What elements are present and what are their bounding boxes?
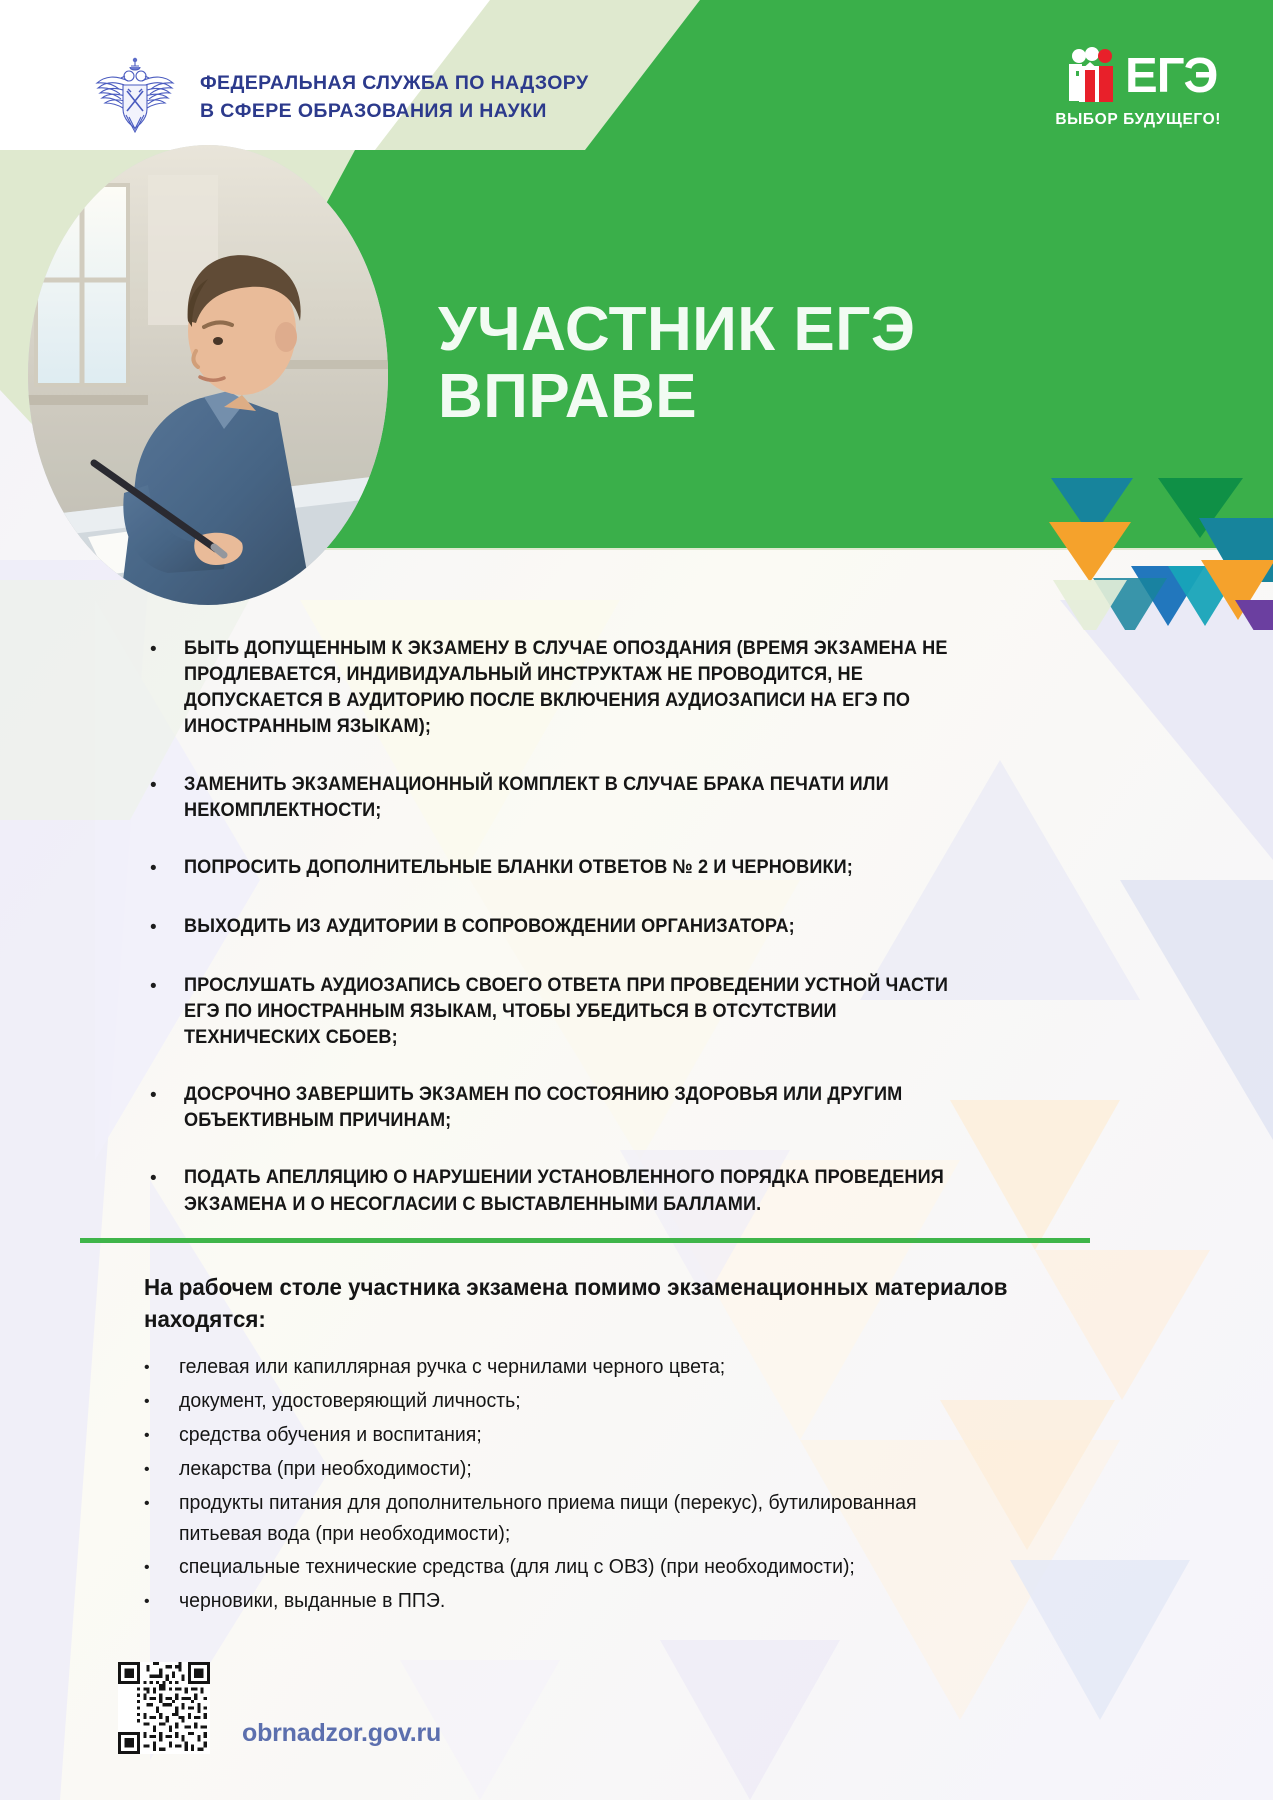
- desk-item-text: продукты питания для дополнительного при…: [179, 1488, 1001, 1550]
- desk-items-list: • гелевая или капиллярная ручка с чернил…: [144, 1352, 1044, 1618]
- desk-item-text: гелевая или капиллярная ручка с чернилам…: [179, 1352, 1001, 1383]
- bullet-icon: •: [144, 1454, 179, 1485]
- right-text: ПОПРОСИТЬ ДОПОЛНИТЕЛЬНЫЕ БЛАНКИ ОТВЕТОВ …: [184, 854, 954, 882]
- agency-name-line2: В СФЕРЕ ОБРАЗОВАНИЯ И НАУКИ: [200, 98, 589, 126]
- student-writing-photo: [28, 145, 388, 605]
- ege-tagline: ВЫБОР БУДУЩЕГО!: [1055, 111, 1221, 129]
- page-title: УЧАСТНИК ЕГЭ ВПРАВЕ: [438, 297, 915, 431]
- bullet-icon: •: [144, 1552, 179, 1583]
- right-text: ДОСРОЧНО ЗАВЕРШИТЬ ЭКЗАМЕН ПО СОСТОЯНИЮ …: [184, 1081, 954, 1133]
- list-item: • специальные технические средства (для …: [144, 1552, 1044, 1583]
- list-item: • лекарства (при необходимости);: [144, 1454, 1044, 1485]
- desk-item-text: черновики, выданные в ППЭ.: [179, 1586, 1001, 1617]
- right-text: ПОДАТЬ АПЕЛЛЯЦИЮ О НАРУШЕНИИ УСТАНОВЛЕНН…: [184, 1164, 954, 1216]
- bullet-icon: •: [150, 635, 184, 740]
- desk-item-text: специальные технические средства (для ли…: [179, 1552, 1001, 1583]
- qr-code-icon[interactable]: [118, 1662, 210, 1754]
- right-text: ВЫХОДИТЬ ИЗ АУДИТОРИИ В СОПРОВОЖДЕНИИ ОР…: [184, 913, 954, 941]
- list-item: • ПОДАТЬ АПЕЛЛЯЦИЮ О НАРУШЕНИИ УСТАНОВЛЕ…: [150, 1164, 1012, 1216]
- list-item: • ПОПРОСИТЬ ДОПОЛНИТЕЛЬНЫЕ БЛАНКИ ОТВЕТО…: [150, 854, 1012, 882]
- bullet-icon: •: [150, 913, 184, 941]
- list-item: • документ, удостоверяющий личность;: [144, 1386, 1044, 1417]
- right-text: БЫТЬ ДОПУЩЕННЫМ К ЭКЗАМЕНУ В СЛУЧАЕ ОПОЗ…: [184, 635, 954, 740]
- bullet-icon: •: [144, 1586, 179, 1617]
- list-item: • ДОСРОЧНО ЗАВЕРШИТЬ ЭКЗАМЕН ПО СОСТОЯНИ…: [150, 1081, 1012, 1133]
- desk-items-section: На рабочем столе участника экзамена поми…: [144, 1272, 1044, 1620]
- page-title-line1: УЧАСТНИК ЕГЭ: [438, 297, 915, 364]
- list-item: • БЫТЬ ДОПУЩЕННЫМ К ЭКЗАМЕНУ В СЛУЧАЕ ОП…: [150, 635, 1012, 740]
- rights-list: • БЫТЬ ДОПУЩЕННЫМ К ЭКЗАМЕНУ В СЛУЧАЕ ОП…: [150, 635, 1012, 1248]
- page-title-line2: ВПРАВЕ: [438, 364, 915, 431]
- ege-logo: ЕГЭ ВЫБОР БУДУЩЕГО!: [1055, 46, 1221, 129]
- bullet-icon: •: [150, 854, 184, 882]
- decorative-triangles: [943, 400, 1273, 630]
- agency-name-line1: ФЕДЕРАЛЬНАЯ СЛУЖБА ПО НАДЗОРУ: [200, 70, 589, 98]
- list-item: • ВЫХОДИТЬ ИЗ АУДИТОРИИ В СОПРОВОЖДЕНИИ …: [150, 913, 1012, 941]
- right-text: ЗАМЕНИТЬ ЭКЗАМЕНАЦИОННЫЙ КОМПЛЕКТ В СЛУЧ…: [184, 771, 954, 823]
- bullet-icon: •: [150, 1164, 184, 1216]
- desk-items-heading: На рабочем столе участника экзамена поми…: [144, 1272, 1042, 1336]
- section-divider: [80, 1238, 1090, 1243]
- list-item: • ПРОСЛУШАТЬ АУДИОЗАПИСЬ СВОЕГО ОТВЕТА П…: [150, 972, 1012, 1050]
- bullet-icon: •: [144, 1386, 179, 1417]
- bullet-icon: •: [150, 1081, 184, 1133]
- footer: obrnadzor.gov.ru: [118, 1662, 441, 1754]
- right-text: ПРОСЛУШАТЬ АУДИОЗАПИСЬ СВОЕГО ОТВЕТА ПРИ…: [184, 972, 954, 1050]
- desk-item-text: документ, удостоверяющий личность;: [179, 1386, 1001, 1417]
- list-item: • гелевая или капиллярная ручка с чернил…: [144, 1352, 1044, 1383]
- list-item: • черновики, выданные в ППЭ.: [144, 1586, 1044, 1617]
- list-item: • ЗАМЕНИТЬ ЭКЗАМЕНАЦИОННЫЙ КОМПЛЕКТ В СЛ…: [150, 771, 1012, 823]
- poster-root: ФЕДЕРАЛЬНАЯ СЛУЖБА ПО НАДЗОРУ В СФЕРЕ ОБ…: [0, 0, 1273, 1800]
- list-item: • средства обучения и воспитания;: [144, 1420, 1044, 1451]
- desk-item-text: лекарства (при необходимости);: [179, 1454, 1001, 1485]
- bullet-icon: •: [144, 1420, 179, 1451]
- agency-branding: ФЕДЕРАЛЬНАЯ СЛУЖБА ПО НАДЗОРУ В СФЕРЕ ОБ…: [92, 55, 589, 141]
- bullet-icon: •: [144, 1488, 179, 1550]
- list-item: • продукты питания для дополнительного п…: [144, 1488, 1044, 1550]
- desk-item-text: средства обучения и воспитания;: [179, 1420, 1001, 1451]
- bullet-icon: •: [150, 771, 184, 823]
- agency-name: ФЕДЕРАЛЬНАЯ СЛУЖБА ПО НАДЗОРУ В СФЕРЕ ОБ…: [200, 70, 589, 125]
- rosobrnadzor-emblem-icon: [92, 55, 178, 141]
- website-url[interactable]: obrnadzor.gov.ru: [242, 1719, 441, 1754]
- ege-people-icon: [1059, 46, 1121, 106]
- ege-wordmark: ЕГЭ: [1125, 52, 1217, 101]
- bullet-icon: •: [150, 972, 184, 1050]
- bullet-icon: •: [144, 1352, 179, 1383]
